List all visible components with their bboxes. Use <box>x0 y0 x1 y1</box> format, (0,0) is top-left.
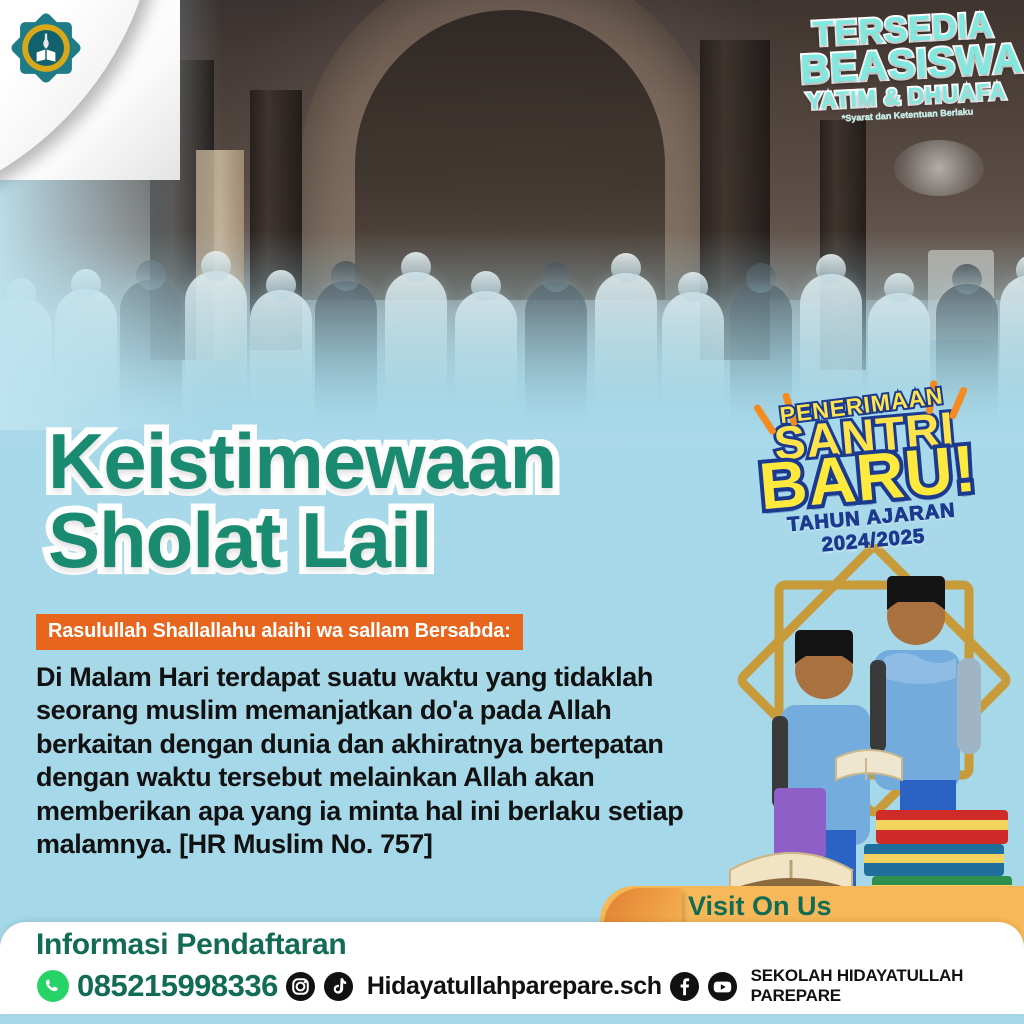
school-name-label: SEKOLAH HIDAYATULLAH PAREPARE <box>751 966 1024 1006</box>
visit-title: Visit On Us <box>688 892 1000 920</box>
facebook-icon[interactable] <box>669 971 700 1002</box>
hadith-text: Di Malam Hari terdapat suatu waktu yang … <box>36 661 726 862</box>
whatsapp-icon[interactable] <box>36 969 70 1003</box>
hadith-attribution-banner: Rasulullah Shallallahu alaihi wa sallam … <box>36 614 523 650</box>
registration-info-title: Informasi Pendaftaran <box>36 928 346 962</box>
ceiling-fan-icon <box>894 140 984 196</box>
youtube-icon[interactable] <box>707 971 738 1002</box>
title-line-2: Sholat Lail <box>48 503 556 578</box>
whatsapp-number[interactable]: 085215998336 <box>77 968 278 1004</box>
instagram-icon[interactable] <box>285 971 316 1002</box>
poster-canvas: TERSEDIA BEASISWA YATIM & DHUAFA *Syarat… <box>0 0 1024 1024</box>
tiktok-icon[interactable] <box>323 971 354 1002</box>
new-student-admission-badge: PENERIMAAN SANTRI BARU! TAHUN AJARAN 202… <box>722 380 1012 554</box>
footer-contact-bar: Informasi Pendaftaran 085215998336 <box>0 922 1024 1014</box>
title-line-1: Keistimewaan <box>48 424 556 499</box>
hidayatullah-star-logo-icon <box>10 12 82 84</box>
contact-row: 085215998336 Hidayatullahparepare.sch <box>36 966 1024 1006</box>
students-with-books-photo <box>724 530 1024 910</box>
social-handle[interactable]: Hidayatullahparepare.sch <box>367 972 662 1001</box>
poster-title: Keistimewaan Sholat Lail <box>48 424 556 578</box>
scholarship-badge: TERSEDIA BEASISWA YATIM & DHUAFA *Syarat… <box>797 9 1012 126</box>
hadith-block: Rasulullah Shallallahu alaihi wa sallam … <box>36 614 736 862</box>
